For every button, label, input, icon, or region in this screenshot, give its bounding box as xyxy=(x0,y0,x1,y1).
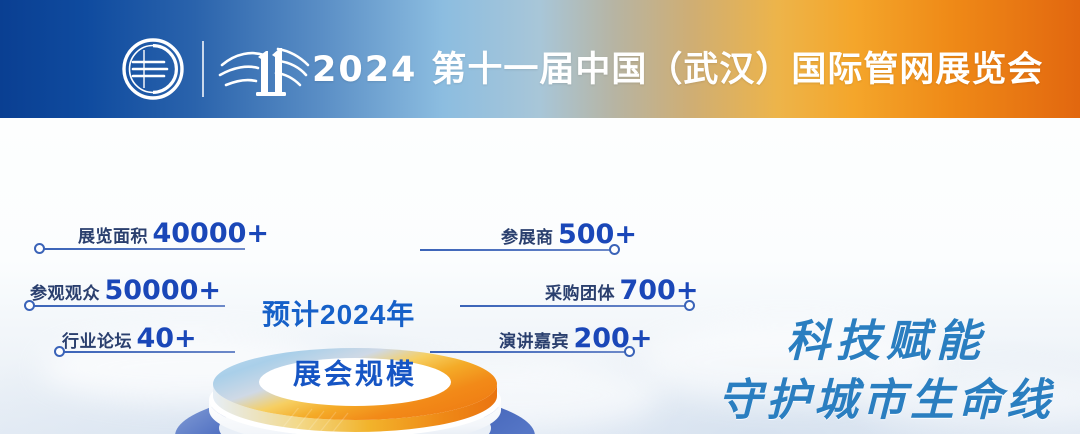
slogan-line-2: 守护城市生命线 xyxy=(700,370,1072,432)
banner-body: 预计2024年 xyxy=(0,118,1080,434)
banner-title: 2024第十一届中国（武汉）国际管网展览会 xyxy=(312,50,1043,90)
banner-title-cn: 第十一届中国（武汉）国际管网展览会 xyxy=(431,50,1043,89)
stat-connector-dot xyxy=(34,243,45,254)
stat-label: 采购团体 xyxy=(545,284,615,303)
slogan: 科技赋能 守护城市生命线 xyxy=(700,314,1072,432)
pipe-network-logo-icon xyxy=(122,38,184,100)
banner-year: 2024 xyxy=(312,50,417,90)
stat-value: 700+ xyxy=(619,275,698,306)
stat-value: 500+ xyxy=(558,219,637,250)
stat-label: 参展商 xyxy=(501,228,554,247)
stat-value: 40+ xyxy=(136,323,196,354)
stat-value: 200+ xyxy=(573,323,652,354)
stat-label: 行业论坛 xyxy=(62,332,132,351)
slogan-line-1: 科技赋能 xyxy=(700,314,1072,370)
stat-label: 展览面积 xyxy=(78,227,148,246)
stat-value: 50000+ xyxy=(104,275,221,306)
section-title: 预计2024年 xyxy=(262,293,415,333)
disc-center-label: 展会规模 xyxy=(293,358,417,389)
edition-11-icon xyxy=(218,35,310,101)
stat-label: 参观观众 xyxy=(30,284,100,303)
banner-header: 2024第十一届中国（武汉）国际管网展览会 xyxy=(0,0,1080,118)
stat-value: 40000+ xyxy=(152,218,269,249)
logo-divider xyxy=(202,41,204,97)
event-banner: 2024第十一届中国（武汉）国际管网展览会 预计2024年 xyxy=(0,0,1080,434)
stat-label: 演讲嘉宾 xyxy=(499,332,569,351)
